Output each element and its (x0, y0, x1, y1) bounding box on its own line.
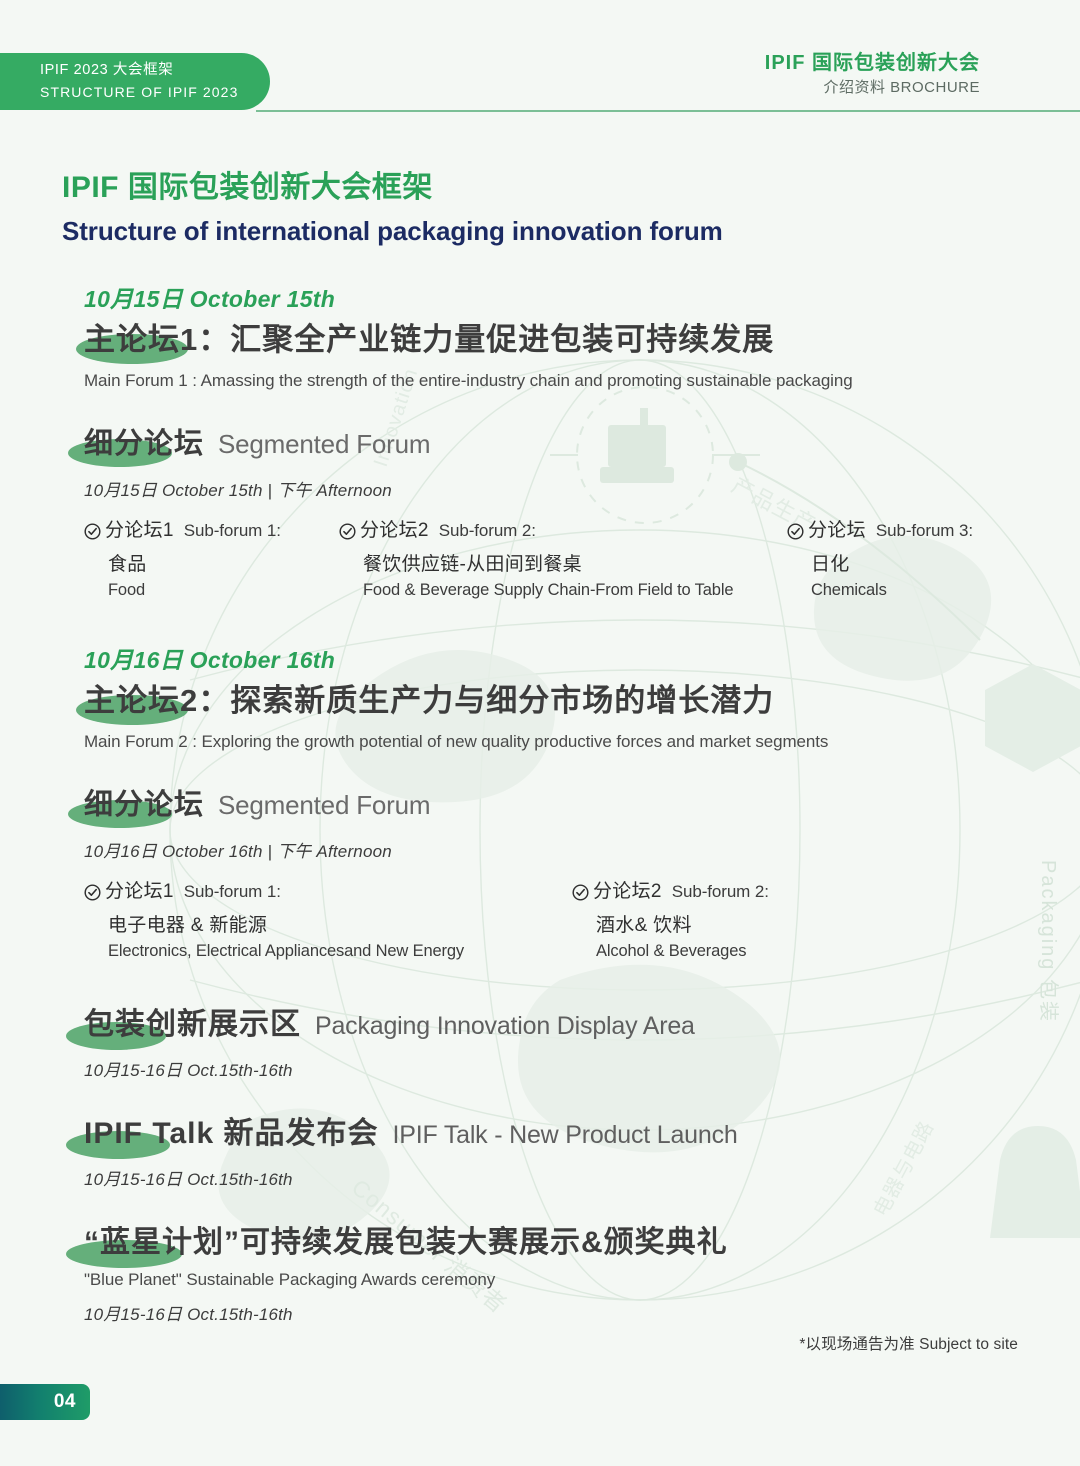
ipif-talk-title-row: IPIF Talk 新品发布会 IPIF Talk - New Product … (84, 1113, 1018, 1155)
header-brand-cn: IPIF 国际包装创新大会 (765, 50, 980, 76)
subforum-head: 分论坛2 Sub-forum 2: (572, 880, 769, 904)
subforum-topic-cn: 食品 (108, 549, 281, 576)
header-divider (256, 110, 1080, 112)
header-brand-sub: 介绍资料 BROCHURE (765, 76, 980, 100)
day2-segmented-cn-text: 细分论坛 (84, 789, 204, 821)
day1-segmented-cn: 细分论坛 (84, 424, 204, 464)
day1-segmented-en: Segmented Forum (218, 429, 430, 460)
subforum-head: 分论坛1 Sub-forum 1: (84, 880, 464, 904)
subforum-label-en: Sub-forum 2: (672, 880, 769, 904)
day1-date-label: 10月15日 October 15th (84, 284, 1018, 314)
subforum-head: 分论坛1 Sub-forum 1: (84, 519, 281, 543)
subforum-topic-cn: 电子电器 & 新能源 (108, 910, 464, 937)
check-circle-icon (572, 884, 589, 901)
display-area-title-row: 包装创新展示区 Packaging Innovation Display Are… (84, 1004, 1018, 1046)
header-badge: IPIF 2023 大会框架 STRUCTURE OF IPIF 2023 (0, 53, 270, 110)
subforum-label-cn: 分论坛 (808, 519, 866, 543)
page-title: IPIF 国际包装创新大会框架 Structure of internation… (62, 118, 1018, 250)
day1-segmented-date: 10月15日 October 15th | 下午 Afternoon (84, 476, 1018, 501)
day2-segmented-cn: 细分论坛 (84, 785, 204, 825)
subforum-item: 分论坛2 Sub-forum 2: 酒水& 饮料 Alcohol & Bever… (572, 880, 769, 961)
day2-date-label: 10月16日 October 16th (84, 645, 1018, 675)
day2-segmented-title-row: 细分论坛 Segmented Forum (84, 785, 1018, 825)
ipif-talk-en: IPIF Talk - New Product Launch (392, 1121, 737, 1150)
display-area-date: 10月15-16日 Oct.15th-16th (84, 1056, 1018, 1081)
day1-main-forum-heading: 主论坛1：汇聚全产业链力量促进包装可持续发展 (84, 318, 774, 362)
blue-planet-cn: “蓝星计划”可持续发展包装大赛展示&颁奖典礼 (84, 1222, 728, 1264)
subforum-label-en: Sub-forum 2: (439, 519, 536, 543)
display-area-cn-text: 包装创新展示区 (84, 1008, 301, 1041)
page-title-cn: IPIF 国际包装创新大会框架 (62, 168, 1018, 208)
page-number: 04 (54, 1391, 76, 1413)
day2-segmented-forum: 细分论坛 Segmented Forum 10月16日 October 16th… (62, 785, 1018, 972)
blue-planet-date: 10月15-16日 Oct.15th-16th (84, 1300, 1018, 1325)
day-block-oct15: 10月15日 October 15th 主论坛1：汇聚全产业链力量促进包装可持续… (62, 284, 1018, 611)
header-badge-cn: IPIF 2023 大会框架 (40, 59, 270, 81)
page-title-en: Structure of international packaging inn… (62, 212, 1018, 250)
subforum-topic-cn: 酒水& 饮料 (596, 910, 769, 937)
blue-planet-title-row: “蓝星计划”可持续发展包装大赛展示&颁奖典礼 (84, 1222, 1018, 1264)
day1-segmented-title-row: 细分论坛 Segmented Forum (84, 424, 1018, 464)
section-ipif-talk: IPIF Talk 新品发布会 IPIF Talk - New Product … (62, 1113, 1018, 1190)
subforum-head: 分论坛 Sub-forum 3: (787, 519, 973, 543)
day2-main-forum-subtitle: Main Forum 2 : Exploring the growth pote… (84, 729, 1018, 755)
subforum-topic-en: Electronics, Electrical Appliancesand Ne… (108, 942, 464, 961)
day2-segmented-date: 10月16日 October 16th | 下午 Afternoon (84, 837, 1018, 862)
subforum-label-cn: 分论坛2 (360, 519, 429, 543)
section-blue-planet: “蓝星计划”可持续发展包装大赛展示&颁奖典礼 "Blue Planet" Sus… (62, 1222, 1018, 1325)
day1-segmented-forum: 细分论坛 Segmented Forum 10月15日 October 15th… (62, 424, 1018, 611)
footnote: *以现场通告为准 Subject to site (799, 1332, 1018, 1354)
subforum-topic-en: Food (108, 581, 281, 600)
subforum-label-cn: 分论坛1 (105, 519, 174, 543)
page-body: IPIF 国际包装创新大会框架 Structure of internation… (0, 118, 1080, 1466)
header-brand: IPIF 国际包装创新大会 介绍资料 BROCHURE (765, 50, 980, 100)
display-area-cn: 包装创新展示区 (84, 1004, 301, 1046)
subforum-item: 分论坛1 Sub-forum 1: 电子电器 & 新能源 Electronics… (84, 880, 464, 961)
day1-main-forum-subtitle: Main Forum 1 : Amassing the strength of … (84, 368, 1018, 394)
page-footer-bar: 04 (0, 1384, 90, 1420)
ipif-talk-cn: IPIF Talk 新品发布会 (84, 1113, 378, 1155)
subforum-label-cn: 分论坛2 (593, 880, 662, 904)
day2-main-forum-heading: 主论坛2：探索新质生产力与细分市场的增长潜力 (84, 679, 774, 723)
day2-segmented-en: Segmented Forum (218, 790, 430, 821)
subforum-topic-en: Chemicals (811, 581, 973, 600)
subforum-label-en: Sub-forum 1: (184, 519, 281, 543)
check-circle-icon (787, 523, 804, 540)
check-circle-icon (339, 523, 356, 540)
display-area-en: Packaging Innovation Display Area (315, 1012, 695, 1041)
subforum-label-en: Sub-forum 1: (184, 880, 281, 904)
subforum-item: 分论坛2 Sub-forum 2: 餐饮供应链-从田间到餐桌 Food & Be… (339, 519, 733, 600)
subforum-item: 分论坛 Sub-forum 3: 日化 Chemicals (787, 519, 973, 600)
day2-subforum-row: 分论坛1 Sub-forum 1: 电子电器 & 新能源 Electronics… (84, 880, 1018, 972)
subforum-topic-en: Food & Beverage Supply Chain-From Field … (363, 581, 733, 600)
day2-main-forum-title: 主论坛2：探索新质生产力与细分市场的增长潜力 (84, 679, 774, 723)
ipif-talk-date: 10月15-16日 Oct.15th-16th (84, 1165, 1018, 1190)
day1-subforum-row: 分论坛1 Sub-forum 1: 食品 Food 分论坛2 Sub-forum… (84, 519, 1018, 611)
subforum-item: 分论坛1 Sub-forum 1: 食品 Food (84, 519, 281, 600)
day-block-oct16: 10月16日 October 16th 主论坛2：探索新质生产力与细分市场的增长… (62, 645, 1018, 972)
header-badge-en: STRUCTURE OF IPIF 2023 (40, 81, 270, 103)
subforum-topic-en: Alcohol & Beverages (596, 942, 769, 961)
subforum-topic-cn: 日化 (811, 549, 973, 576)
subforum-topic-cn: 餐饮供应链-从田间到餐桌 (363, 549, 733, 576)
section-display-area: 包装创新展示区 Packaging Innovation Display Are… (62, 1004, 1018, 1081)
check-circle-icon (84, 884, 101, 901)
blue-planet-cn-text: “蓝星计划”可持续发展包装大赛展示&颁奖典礼 (84, 1226, 728, 1259)
day1-main-forum-title: 主论坛1：汇聚全产业链力量促进包装可持续发展 (84, 318, 774, 362)
page-header: IPIF 2023 大会框架 STRUCTURE OF IPIF 2023 IP… (0, 0, 1080, 118)
subforum-label-en: Sub-forum 3: (876, 519, 973, 543)
check-circle-icon (84, 523, 101, 540)
subforum-head: 分论坛2 Sub-forum 2: (339, 519, 733, 543)
ipif-talk-cn-text: IPIF Talk 新品发布会 (84, 1117, 378, 1150)
subforum-label-cn: 分论坛1 (105, 880, 174, 904)
day1-segmented-cn-text: 细分论坛 (84, 428, 204, 460)
blue-planet-en: "Blue Planet" Sustainable Packaging Awar… (84, 1270, 1018, 1290)
